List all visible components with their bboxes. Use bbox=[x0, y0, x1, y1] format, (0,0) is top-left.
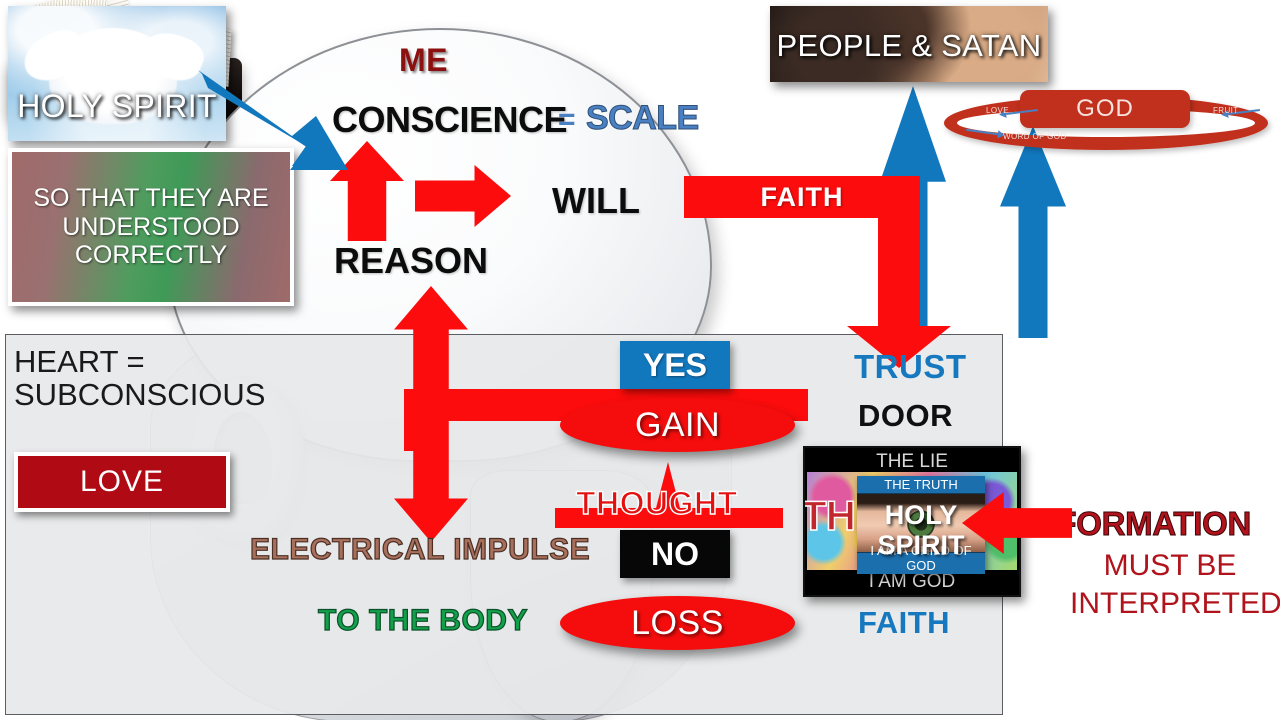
i-am-god-label: I AM GOD bbox=[805, 571, 1019, 593]
people-and-satan-photo: PEOPLE & SATAN bbox=[770, 6, 1048, 82]
door-label: DOOR bbox=[858, 398, 953, 434]
electrical-impulse-label: ELECTRICAL IMPULSE bbox=[250, 533, 590, 567]
faith-bar: FAITH bbox=[684, 176, 920, 218]
diagram-canvas: HOLY SPIRIT SO THAT THEY ARE UNDERSTOOD … bbox=[0, 0, 1280, 720]
faith-arrow-stem bbox=[878, 214, 920, 332]
holy-spirit-to-conscience-arrow bbox=[196, 70, 356, 175]
yes-label: YES bbox=[643, 347, 707, 384]
thought-label: THOUGHT bbox=[576, 485, 738, 522]
scale-label: SCALE bbox=[586, 99, 699, 138]
reason-label: REASON bbox=[334, 240, 488, 282]
love-chip: LOVE bbox=[14, 452, 230, 512]
equals-sign: = bbox=[558, 103, 576, 137]
god-label: GOD bbox=[1076, 95, 1134, 123]
people-and-satan-label: PEOPLE & SATAN bbox=[770, 28, 1048, 64]
me-label: ME bbox=[399, 42, 448, 79]
god-cycle-fruit-label: FRUIT bbox=[1213, 106, 1239, 115]
god-cycle-word-label: WORD OF GOD bbox=[1003, 132, 1067, 141]
gain-oval: GAIN bbox=[560, 398, 795, 452]
god-cycle-love-label: LOVE bbox=[986, 106, 1009, 115]
red-fragment-text: TH bbox=[803, 492, 855, 540]
gain-bar-stub bbox=[404, 419, 438, 451]
faith-bottom-label: FAITH bbox=[858, 605, 950, 641]
holy-label: HOLY bbox=[857, 500, 985, 531]
loss-oval: LOSS bbox=[560, 596, 795, 650]
to-the-body-label: TO THE BODY bbox=[318, 604, 528, 638]
heart-subconscious-label: HEART = SUBCONSCIOUS bbox=[14, 345, 265, 412]
god-center-pill: GOD bbox=[1020, 90, 1190, 128]
gain-label: GAIN bbox=[635, 406, 720, 445]
trust-label: TRUST bbox=[854, 348, 967, 386]
conscience-label: CONSCIENCE bbox=[332, 99, 567, 141]
holy-spirit-label: HOLY SPIRIT bbox=[8, 88, 226, 125]
the-lie-label: THE LIE bbox=[805, 451, 1019, 473]
will-label: WILL bbox=[552, 180, 640, 222]
holy-spirit-photo: HOLY SPIRIT bbox=[8, 6, 226, 141]
understood-correctly-text: SO THAT THEY ARE UNDERSTOOD CORRECTLY bbox=[12, 184, 290, 270]
god-cycle-diagram: LOVE FRUIT WORD OF GOD GOD bbox=[944, 90, 1268, 156]
faith-elbow-arrow: FAITH bbox=[684, 176, 944, 368]
loss-label: LOSS bbox=[631, 604, 724, 643]
no-chip: NO bbox=[620, 530, 730, 578]
information-subtitle: MUST BE INTERPRETED bbox=[1070, 547, 1270, 622]
faith-label: FAITH bbox=[761, 182, 844, 213]
love-chip-label: LOVE bbox=[80, 465, 164, 499]
word-of-god-up-arrow bbox=[1000, 126, 1066, 338]
spirit-label: SPIRIT bbox=[857, 530, 985, 561]
yes-chip: YES bbox=[620, 341, 730, 389]
the-truth-label: THE TRUTH bbox=[857, 477, 985, 492]
no-label: NO bbox=[651, 536, 699, 573]
